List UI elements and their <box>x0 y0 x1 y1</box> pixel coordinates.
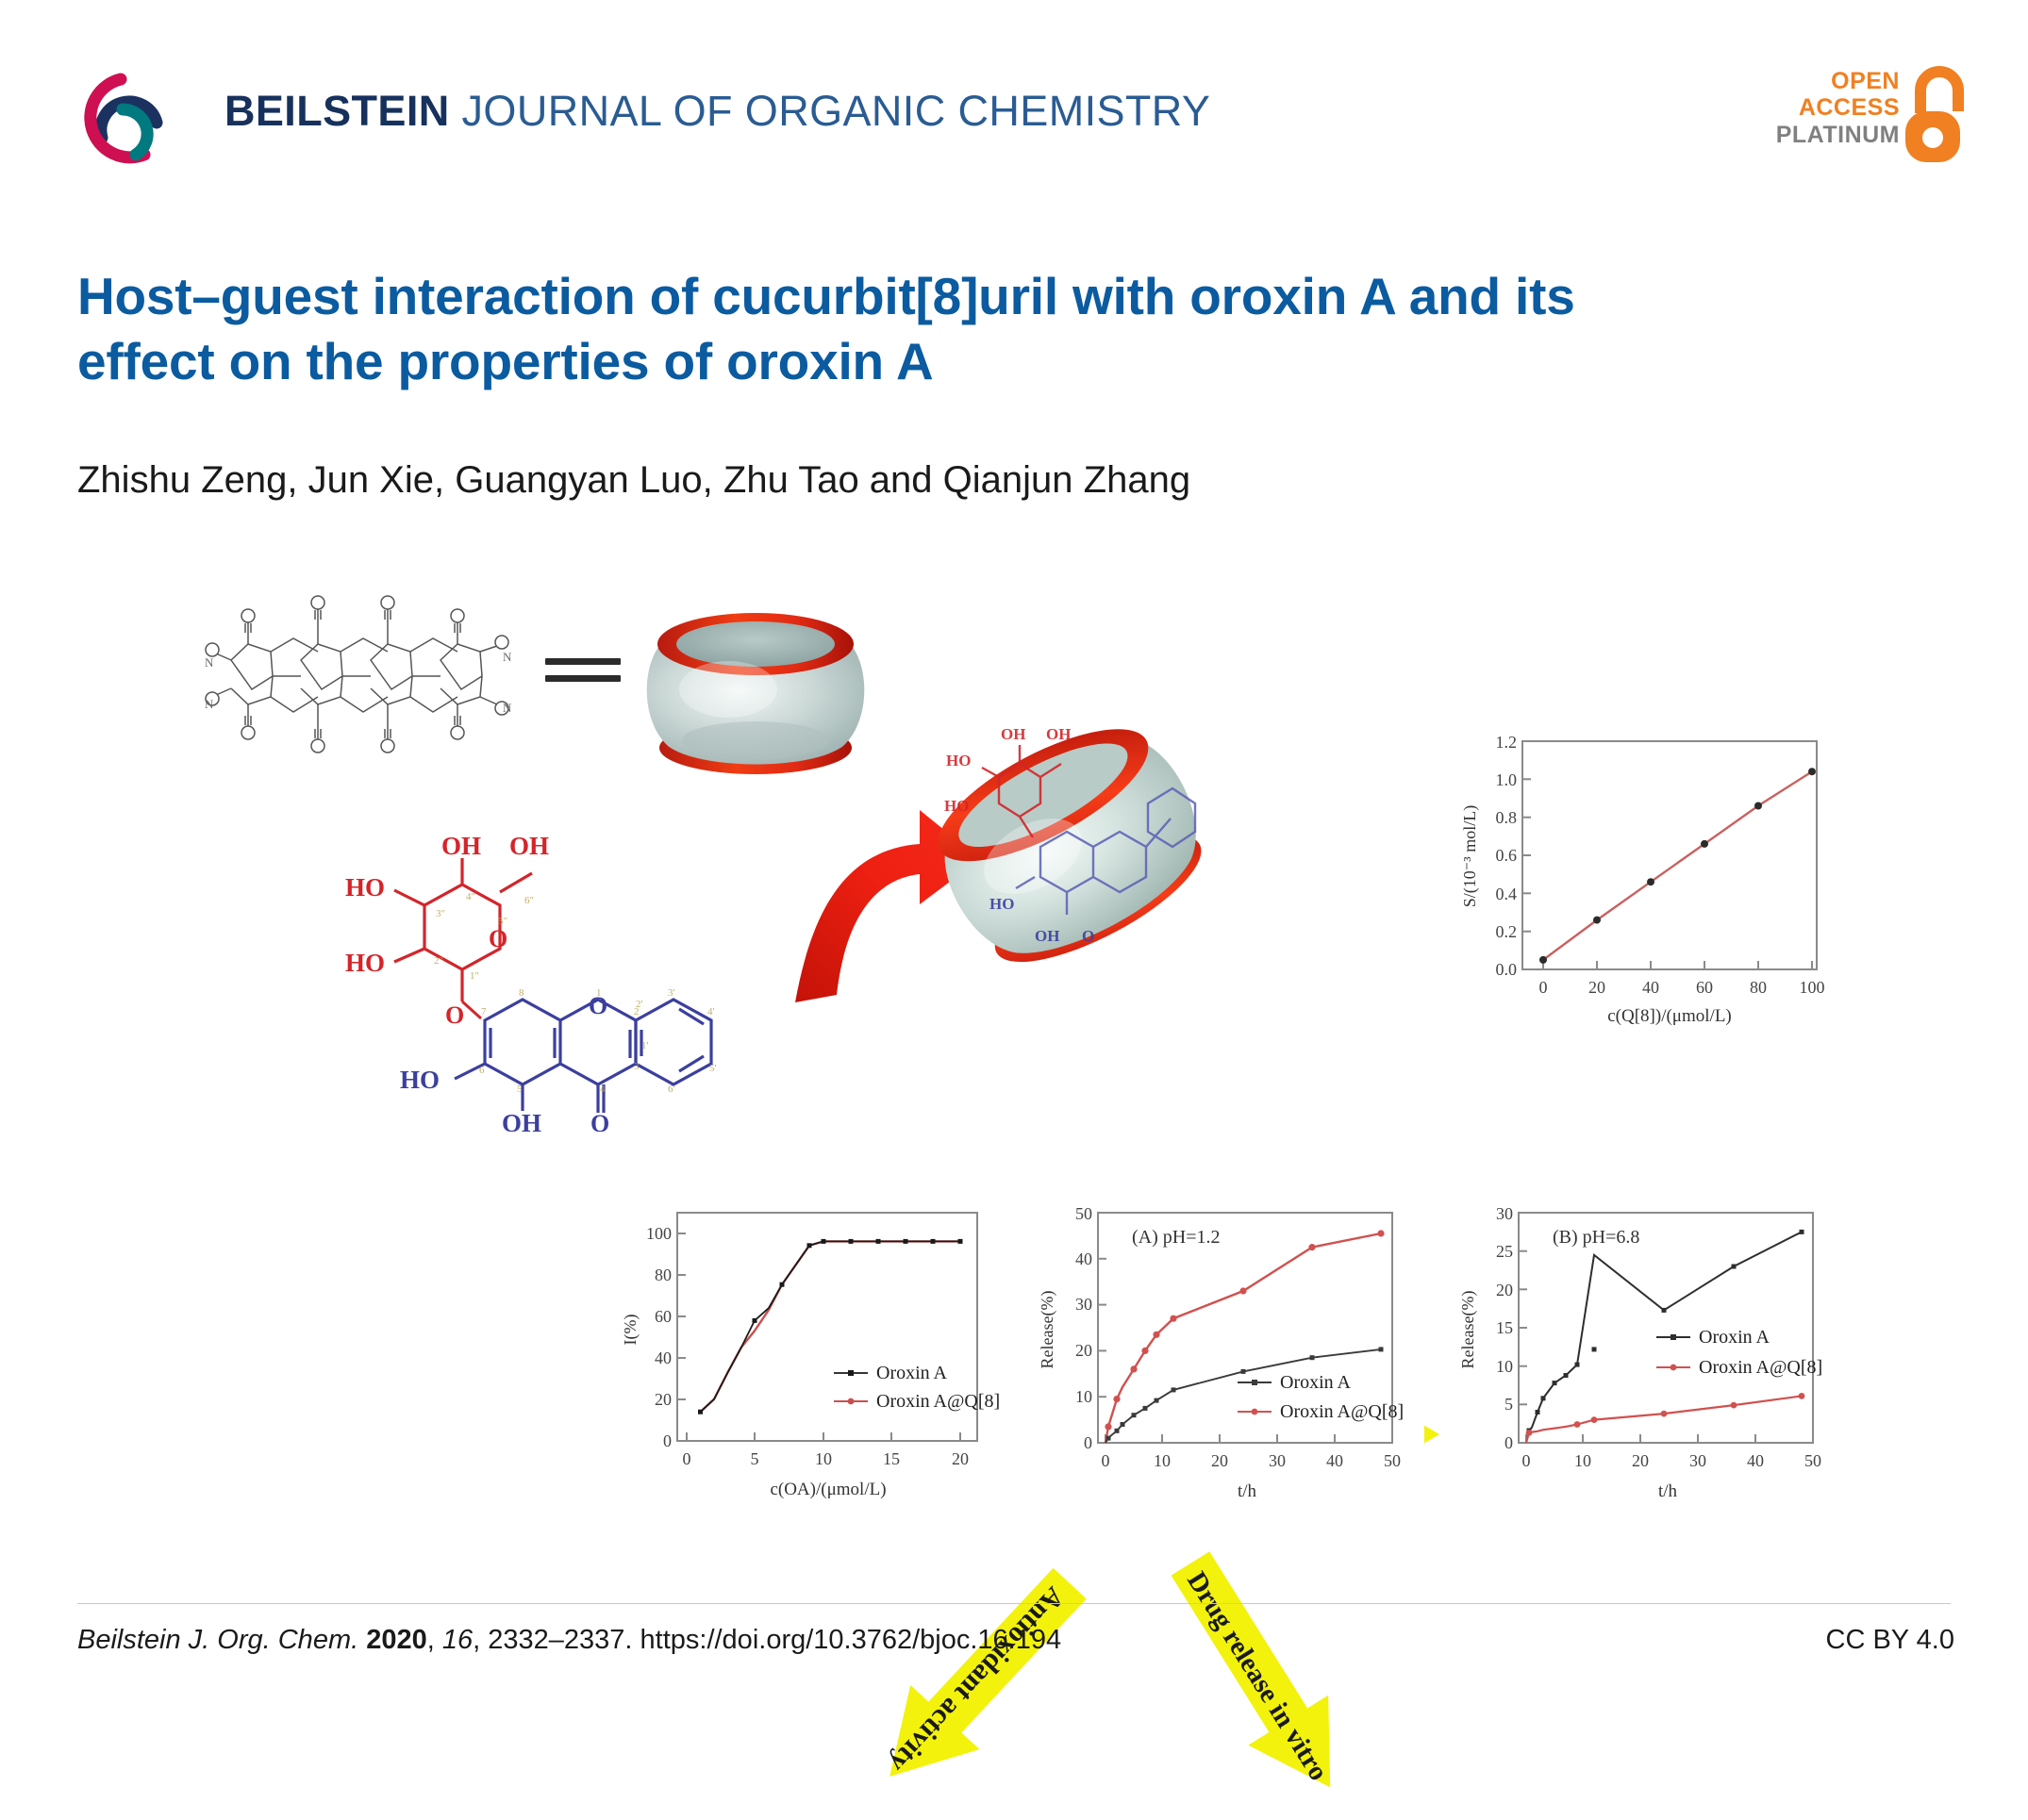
svg-text:40: 40 <box>1075 1249 1092 1268</box>
svg-text:20: 20 <box>655 1390 672 1409</box>
svg-text:5: 5 <box>751 1449 759 1468</box>
svg-text:OH: OH <box>1001 725 1025 743</box>
antioxidant-ylabel: I(%) <box>621 1315 640 1346</box>
svg-text:6″: 6″ <box>524 895 534 906</box>
svg-text:1.0: 1.0 <box>1496 770 1518 789</box>
svg-text:O: O <box>1082 927 1094 945</box>
svg-text:80: 80 <box>1750 978 1767 997</box>
svg-text:5: 5 <box>517 1084 523 1095</box>
svg-text:15: 15 <box>883 1449 900 1468</box>
svg-text:25: 25 <box>1496 1242 1513 1261</box>
equals-sign <box>545 658 621 690</box>
svg-text:20: 20 <box>1588 978 1605 997</box>
svg-text:0: 0 <box>1539 978 1548 997</box>
svg-text:3': 3' <box>668 987 675 999</box>
svg-text:O: O <box>590 1110 609 1132</box>
svg-text:3: 3 <box>634 1061 640 1072</box>
citation-year: 2020 <box>366 1625 427 1655</box>
svg-text:N: N <box>205 697 214 711</box>
svg-text:20: 20 <box>952 1449 969 1468</box>
svg-text:30: 30 <box>1496 1204 1513 1223</box>
cucurbituril-skeletal-structure: NN NN <box>203 571 524 778</box>
svg-text:HO: HO <box>400 1066 440 1094</box>
svg-text:3″: 3″ <box>436 908 445 919</box>
svg-text:0: 0 <box>1102 1451 1110 1470</box>
svg-text:10: 10 <box>1574 1451 1591 1470</box>
svg-text:0.0: 0.0 <box>1496 960 1518 979</box>
svg-text:OH: OH <box>502 1109 541 1132</box>
page-header: BEILSTEIN JOURNAL OF ORGANIC CHEMISTRY O… <box>0 0 2028 179</box>
svg-text:0: 0 <box>663 1431 672 1450</box>
svg-text:60: 60 <box>1696 978 1713 997</box>
graphical-abstract: NN NN <box>0 547 2028 1575</box>
drug-release-a-xlabel: t/h <box>1238 1481 1257 1501</box>
svg-text:40: 40 <box>1642 978 1659 997</box>
journal-brand-title: BEILSTEIN JOURNAL OF ORGANIC CHEMISTRY <box>224 87 1210 136</box>
svg-text:0.8: 0.8 <box>1496 808 1518 827</box>
svg-text:20: 20 <box>1075 1341 1092 1360</box>
svg-text:HO: HO <box>946 752 971 769</box>
svg-text:N: N <box>205 655 214 670</box>
svg-text:0.6: 0.6 <box>1496 846 1518 865</box>
svg-text:100: 100 <box>1800 978 1825 997</box>
svg-text:5″: 5″ <box>498 916 507 927</box>
antioxidant-legend-1: Oroxin A <box>876 1363 948 1383</box>
citation-journal: Beilstein J. Org. Chem. <box>77 1625 358 1655</box>
phase-solubility-xlabel: c(Q[8])/(μmol/L) <box>1607 1006 1732 1026</box>
drug-release-a-ylabel: Release(%) <box>1038 1291 1057 1369</box>
svg-text:20: 20 <box>1211 1451 1228 1470</box>
svg-text:40: 40 <box>655 1348 672 1367</box>
antioxidant-legend-2: Oroxin A@Q[8] <box>876 1391 1000 1412</box>
svg-text:1': 1' <box>641 1040 649 1051</box>
svg-text:O: O <box>489 925 507 952</box>
svg-text:1: 1 <box>596 987 602 999</box>
svg-text:20: 20 <box>1496 1281 1513 1299</box>
svg-text:2': 2' <box>636 999 643 1010</box>
svg-text:30: 30 <box>1269 1451 1286 1470</box>
antioxidant-activity-plot: 020 4060 80100 05 1015 20 c(OA)/(μmol/L)… <box>611 1198 1007 1523</box>
svg-text:0.2: 0.2 <box>1496 922 1518 941</box>
svg-text:1.2: 1.2 <box>1496 733 1518 752</box>
svg-text:1″: 1″ <box>470 970 479 982</box>
svg-text:7: 7 <box>481 1006 487 1018</box>
svg-text:15: 15 <box>1496 1318 1513 1337</box>
svg-text:4: 4 <box>600 1084 606 1095</box>
svg-text:5: 5 <box>1504 1395 1513 1414</box>
license-label: CC BY 4.0 <box>1826 1625 1954 1656</box>
open-access-badge: OPEN ACCESS PLATINUM <box>1737 64 1973 168</box>
citation-volume: 16 <box>442 1625 473 1655</box>
svg-text:4': 4' <box>707 1006 715 1018</box>
svg-text:8: 8 <box>519 987 524 999</box>
svg-text:10: 10 <box>1075 1387 1092 1406</box>
svg-text:HO: HO <box>989 895 1014 913</box>
svg-text:OH: OH <box>441 832 481 860</box>
svg-text:0: 0 <box>1522 1451 1531 1470</box>
svg-text:0: 0 <box>683 1449 691 1468</box>
drug-release-a-legend-2: Oroxin A@Q[8] <box>1280 1401 1404 1422</box>
drug-release-ph-1-2-plot: 010 2030 4050 010 2030 4050 (A) pH=1.2 t… <box>1028 1198 1424 1523</box>
footer-divider <box>77 1603 1951 1604</box>
oa-line-open: OPEN <box>1776 68 1900 94</box>
drug-release-a-legend-1: Oroxin A <box>1280 1372 1352 1393</box>
drug-release-ph-6-8-plot: 05 1015 2025 30 010 2030 4050 (B) pH=6.8… <box>1443 1198 1849 1523</box>
svg-text:30: 30 <box>1689 1451 1706 1470</box>
drug-release-b-title: (B) pH=6.8 <box>1553 1227 1639 1248</box>
svg-text:0: 0 <box>1504 1433 1513 1452</box>
svg-text:30: 30 <box>1075 1295 1092 1314</box>
svg-text:N: N <box>503 701 512 715</box>
phase-solubility-ylabel: S/(10⁻³ mol/L) <box>1460 805 1480 907</box>
svg-text:80: 80 <box>655 1266 672 1284</box>
drug-release-a-title: (A) pH=1.2 <box>1132 1227 1221 1248</box>
drug-release-b-ylabel: Release(%) <box>1458 1291 1478 1369</box>
oroxin-A-at-cb8-inclusion-complex: OH OH HO HO HO OH O <box>929 705 1212 988</box>
svg-text:HO: HO <box>345 873 385 902</box>
oa-line-access: ACCESS <box>1776 94 1900 121</box>
beilstein-swirl-logo <box>74 68 175 170</box>
citation-line: Beilstein J. Org. Chem. 2020, 16, 2332–2… <box>77 1625 1061 1656</box>
svg-text:50: 50 <box>1075 1204 1092 1223</box>
svg-text:0: 0 <box>1084 1433 1092 1452</box>
svg-text:40: 40 <box>1326 1451 1343 1470</box>
drug-release-arrow-label: Drug release in vitro <box>1181 1566 1334 1786</box>
svg-text:50: 50 <box>1384 1451 1401 1470</box>
svg-text:O: O <box>445 1001 464 1029</box>
brand-bold: BEILSTEIN <box>224 87 450 135</box>
svg-text:HO: HO <box>944 797 969 815</box>
svg-text:20: 20 <box>1632 1451 1649 1470</box>
page-title: Host–guest interaction of cucurbit[8]uri… <box>77 264 1700 395</box>
open-padlock-icon <box>1900 64 1973 166</box>
svg-text:10: 10 <box>1496 1357 1513 1376</box>
citation-doi[interactable]: https://doi.org/10.3762/bjoc.16.194 <box>640 1625 1062 1655</box>
brand-rest: JOURNAL OF ORGANIC CHEMISTRY <box>450 87 1211 135</box>
svg-text:60: 60 <box>655 1307 672 1326</box>
drug-release-b-xlabel: t/h <box>1658 1481 1678 1501</box>
svg-text:4″: 4″ <box>466 891 475 902</box>
drug-release-b-legend-2: Oroxin A@Q[8] <box>1699 1357 1822 1378</box>
author-list: Zhishu Zeng, Jun Xie, Guangyan Luo, Zhu … <box>77 459 1775 502</box>
svg-text:6': 6' <box>668 1084 675 1095</box>
phase-solubility-plot: 0.00.2 0.40.6 0.81.0 1.2 020 4060 80100 … <box>1453 724 1849 1035</box>
oroxin-A-structure: OH OH HO HO O O <box>323 830 756 1132</box>
svg-text:6: 6 <box>479 1065 485 1076</box>
svg-text:5': 5' <box>709 1063 717 1074</box>
citation-pages: , 2332–2337. <box>473 1625 640 1655</box>
svg-text:40: 40 <box>1747 1451 1764 1470</box>
cb8-barrel-cartoon <box>634 599 877 783</box>
drug-release-b-legend-1: Oroxin A <box>1699 1327 1770 1348</box>
svg-text:10: 10 <box>1154 1451 1171 1470</box>
svg-text:OH: OH <box>509 832 549 860</box>
svg-text:2″: 2″ <box>434 955 443 967</box>
svg-text:OH: OH <box>1035 927 1059 945</box>
svg-text:50: 50 <box>1804 1451 1821 1470</box>
oa-line-platinum: PLATINUM <box>1776 122 1900 148</box>
svg-text:HO: HO <box>345 949 385 977</box>
antioxidant-xlabel: c(OA)/(μmol/L) <box>770 1480 886 1499</box>
svg-text:OH: OH <box>1046 725 1071 743</box>
svg-text:10: 10 <box>815 1449 832 1468</box>
svg-text:0.4: 0.4 <box>1496 885 1518 903</box>
svg-text:100: 100 <box>646 1224 672 1243</box>
svg-text:N: N <box>503 650 512 664</box>
